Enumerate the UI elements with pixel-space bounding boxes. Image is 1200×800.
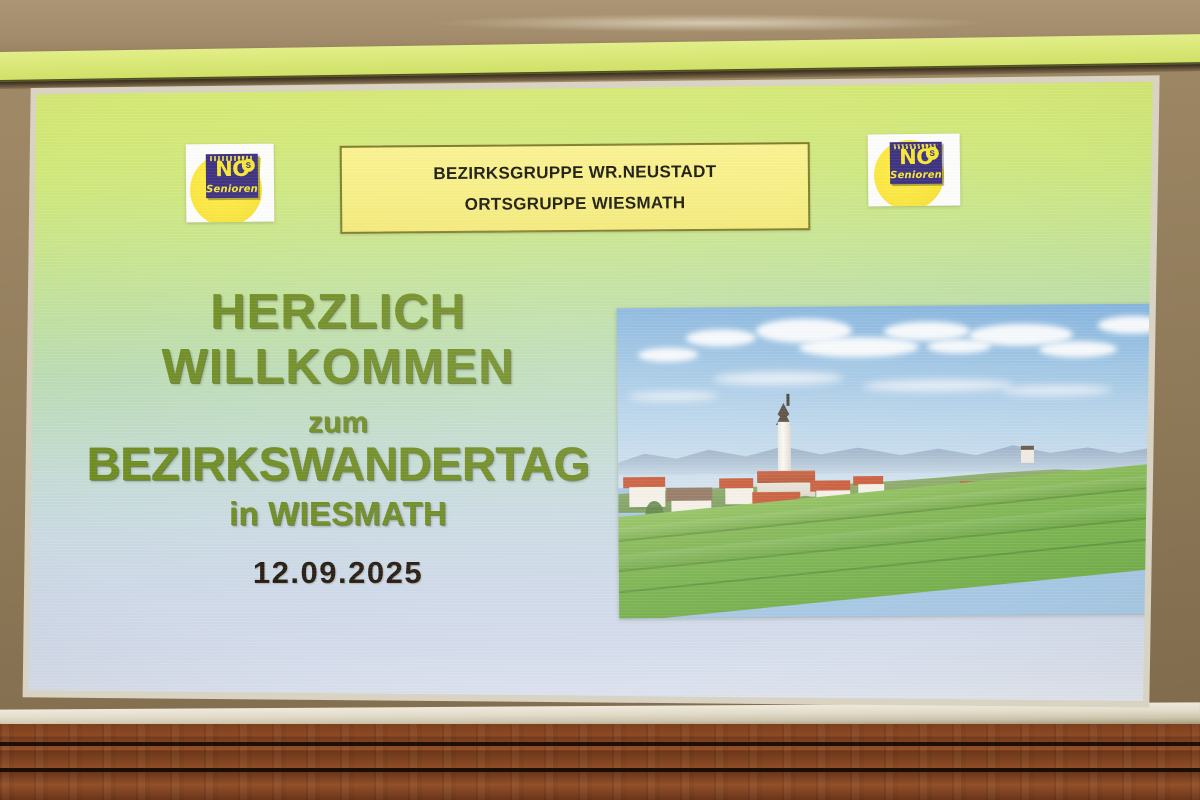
- church-spire: [786, 394, 789, 406]
- logo-superscript-badge: S: [926, 147, 939, 160]
- logo-subtitle: Senioren: [890, 170, 942, 182]
- welcome-headings: HERZLICH WILLKOMMEN zum BEZIRKSWANDERTAG…: [58, 288, 618, 530]
- hilltop-chapel: [1021, 446, 1034, 463]
- noe-senioren-logo-left: NÖ S Senioren: [186, 144, 275, 223]
- event-date: 12.09.2025: [58, 555, 618, 591]
- village-photo: [617, 304, 1154, 619]
- noe-senioren-logo-right: NÖ S Senioren: [868, 134, 961, 207]
- presentation-slide: NÖ S Senioren BEZIRKSGRUPPE WR.NEUSTADT …: [22, 78, 1166, 706]
- logo-subtitle: Senioren: [206, 184, 258, 195]
- heading-willkommen: WILLKOMMEN: [58, 343, 618, 392]
- wood-seam: [0, 768, 1200, 772]
- house: [725, 488, 753, 504]
- logo-plate: NÖ S Senioren: [890, 142, 942, 185]
- group-header-box: BEZIRKSGRUPPE WR.NEUSTADT ORTSGRUPPE WIE…: [340, 142, 811, 234]
- heading-bezirkswandertag: BEZIRKSWANDERTAG: [58, 440, 618, 487]
- church-tower: [778, 422, 791, 472]
- wood-seam: [0, 742, 1200, 746]
- header-line-bezirksgruppe: BEZIRKSGRUPPE WR.NEUSTADT: [433, 161, 716, 183]
- logo-superscript-badge: S: [242, 159, 255, 172]
- logo-plate: NÖ S Senioren: [206, 154, 258, 198]
- cloud: [884, 321, 970, 341]
- heading-in-wiesmath: in WIESMATH: [58, 497, 618, 530]
- heading-herzlich: HERZLICH: [58, 288, 618, 337]
- header-line-ortsgruppe: ORTSGRUPPE WIESMATH: [465, 193, 686, 215]
- wood-panelling: [0, 724, 1200, 800]
- heading-zum: zum: [58, 408, 618, 438]
- screenshot-stage: NÖ S Senioren BEZIRKSGRUPPE WR.NEUSTADT …: [0, 0, 1200, 800]
- projection-screen: NÖ S Senioren BEZIRKSGRUPPE WR.NEUSTADT …: [22, 78, 1166, 706]
- wood-grain-texture: [0, 724, 1200, 800]
